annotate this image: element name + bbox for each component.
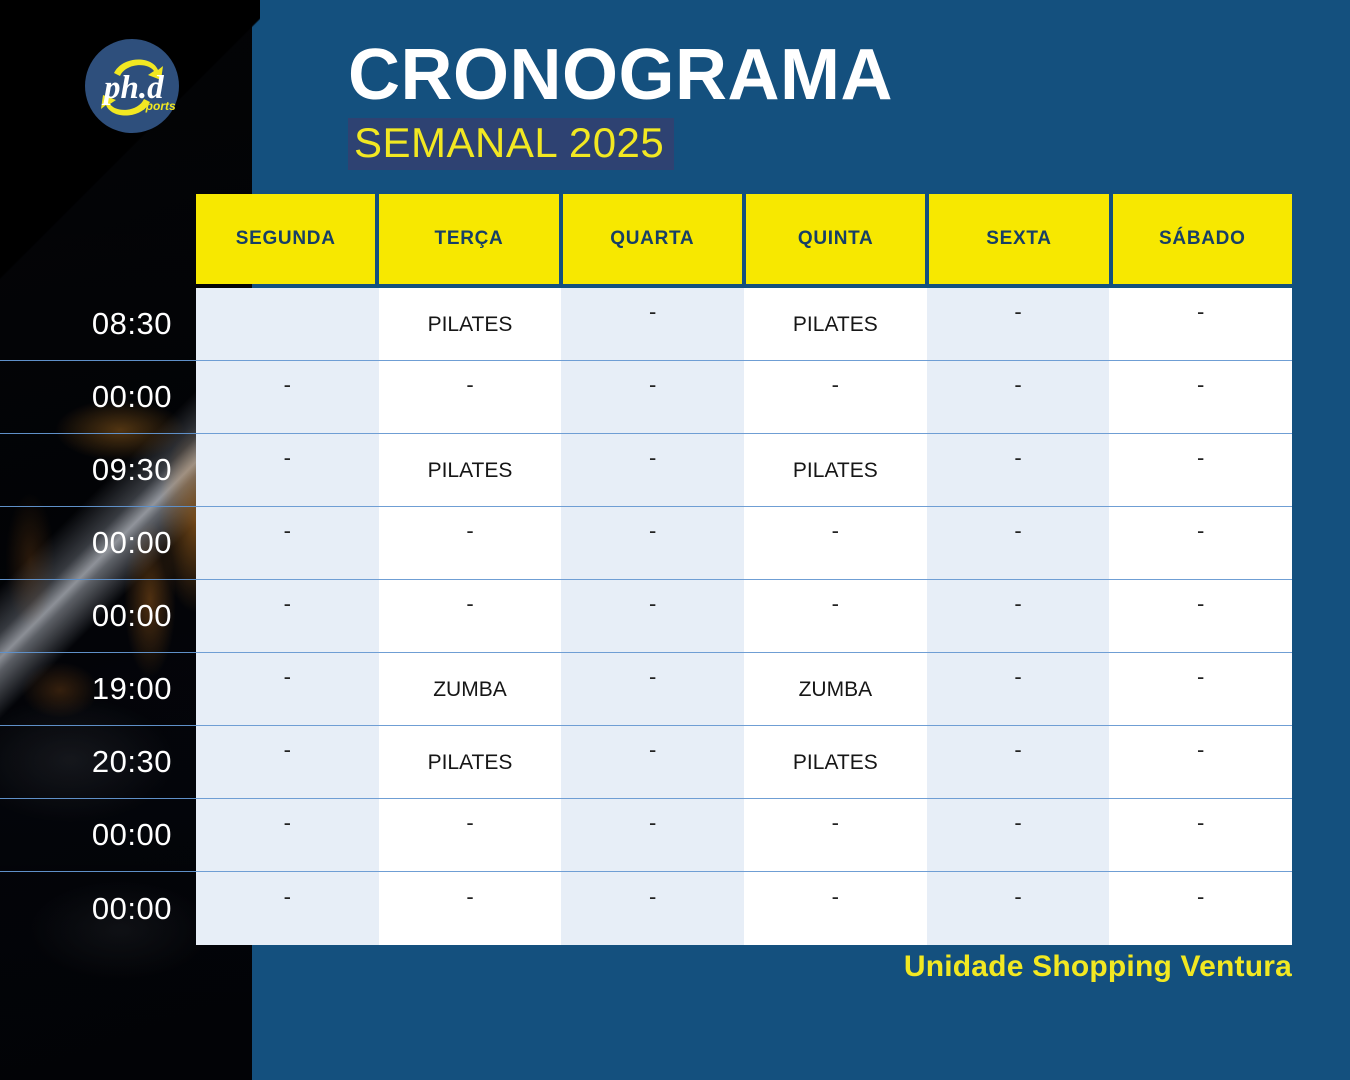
time-label: 09:30	[0, 434, 196, 507]
empty-slot-dash: -	[1197, 593, 1204, 615]
schedule-cell[interactable]: -	[196, 580, 379, 653]
schedule-cell[interactable]: -	[1109, 726, 1292, 799]
empty-slot-dash: -	[1014, 520, 1021, 542]
time-label: 19:00	[0, 653, 196, 726]
column-header-tera[interactable]: TERÇA	[379, 194, 558, 284]
time-column: 08:3000:0009:3000:0000:0019:0020:3000:00…	[0, 288, 196, 945]
schedule-cell[interactable]: -	[1109, 288, 1292, 361]
time-label: 00:00	[0, 872, 196, 945]
schedule-cell[interactable]: -	[927, 726, 1110, 799]
empty-slot-dash: -	[1197, 301, 1204, 323]
schedule-cell[interactable]: -	[379, 507, 562, 580]
schedule-cell[interactable]: -	[561, 434, 744, 507]
empty-slot-dash: -	[466, 812, 473, 834]
column-header-sbado[interactable]: SÁBADO	[1113, 194, 1292, 284]
phd-sports-logo-icon: ph.d sports	[82, 36, 182, 136]
schedule-cell[interactable]: -	[196, 653, 379, 726]
empty-slot-dash: -	[284, 886, 291, 908]
schedule-cell[interactable]: -	[1109, 653, 1292, 726]
schedule-cell[interactable]: -	[744, 580, 927, 653]
empty-slot-dash: -	[649, 739, 656, 761]
empty-slot-dash: -	[1197, 520, 1204, 542]
empty-slot-dash: -	[1014, 812, 1021, 834]
schedule-cell[interactable]: -	[927, 799, 1110, 872]
empty-slot-dash: -	[649, 447, 656, 469]
class-name: PILATES	[428, 751, 513, 775]
phd-sports-logo: ph.d sports	[82, 36, 182, 136]
class-name: PILATES	[428, 313, 513, 337]
column-header-sexta[interactable]: SEXTA	[929, 194, 1108, 284]
schedule-cell[interactable]: -	[744, 507, 927, 580]
empty-slot-dash: -	[466, 374, 473, 396]
class-name: ZUMBA	[799, 678, 873, 702]
schedule-cell[interactable]: -	[1109, 799, 1292, 872]
schedule-cell[interactable]: -	[927, 288, 1110, 361]
schedule-cell[interactable]: -	[196, 434, 379, 507]
empty-slot-dash: -	[284, 374, 291, 396]
column-header-segunda[interactable]: SEGUNDA	[196, 194, 375, 284]
page-header: CRONOGRAMA SEMANAL 2025	[348, 36, 893, 170]
schedule-cell[interactable]: PILATES	[379, 434, 562, 507]
schedule-cell[interactable]: -	[196, 726, 379, 799]
schedule-cell[interactable]: -	[379, 872, 562, 945]
time-label: 00:00	[0, 361, 196, 434]
schedule-cell[interactable]: -	[1109, 872, 1292, 945]
schedule-cell[interactable]: -	[196, 872, 379, 945]
schedule-cell[interactable]: -	[927, 507, 1110, 580]
empty-slot-dash: -	[649, 374, 656, 396]
empty-slot-dash: -	[284, 666, 291, 688]
schedule-body: PILATES-PILATES---------PILATES-PILATES-…	[196, 288, 1292, 945]
empty-slot-dash: -	[1014, 593, 1021, 615]
empty-slot-dash: -	[832, 593, 839, 615]
schedule-cell[interactable]: ZUMBA	[379, 653, 562, 726]
time-label: 00:00	[0, 799, 196, 872]
empty-slot-dash: -	[1197, 886, 1204, 908]
empty-slot-dash: -	[1014, 374, 1021, 396]
empty-slot-dash: -	[1014, 301, 1021, 323]
schedule-cell[interactable]: PILATES	[379, 726, 562, 799]
time-label: 00:00	[0, 507, 196, 580]
empty-slot-dash: -	[1014, 666, 1021, 688]
empty-slot-dash: -	[649, 886, 656, 908]
schedule-cell[interactable]: PILATES	[379, 288, 562, 361]
empty-slot-dash: -	[284, 739, 291, 761]
column-header-quarta[interactable]: QUARTA	[563, 194, 742, 284]
empty-slot-dash: -	[284, 812, 291, 834]
class-name: PILATES	[793, 459, 878, 483]
empty-slot-dash: -	[466, 886, 473, 908]
empty-slot-dash: -	[1197, 739, 1204, 761]
schedule-cell[interactable]: -	[196, 507, 379, 580]
empty-slot-dash: -	[832, 886, 839, 908]
schedule-cell[interactable]	[196, 288, 379, 361]
schedule-cell[interactable]: -	[196, 799, 379, 872]
schedule-cell[interactable]: -	[561, 361, 744, 434]
schedule-table: SEGUNDATERÇAQUARTAQUINTASEXTASÁBADO PILA…	[196, 194, 1292, 945]
empty-slot-dash: -	[284, 520, 291, 542]
empty-slot-dash: -	[1197, 447, 1204, 469]
time-label: 20:30	[0, 726, 196, 799]
unit-label: Unidade Shopping Ventura	[904, 950, 1292, 984]
schedule-cell[interactable]: -	[1109, 434, 1292, 507]
class-name: PILATES	[793, 313, 878, 337]
schedule-cell[interactable]: -	[927, 361, 1110, 434]
schedule-cell[interactable]: ZUMBA	[744, 653, 927, 726]
schedule-cell[interactable]: -	[561, 580, 744, 653]
empty-slot-dash: -	[1014, 739, 1021, 761]
empty-slot-dash: -	[1197, 812, 1204, 834]
empty-slot-dash: -	[466, 520, 473, 542]
empty-slot-dash: -	[649, 666, 656, 688]
schedule-cell[interactable]: -	[744, 361, 927, 434]
page-title: CRONOGRAMA	[348, 36, 893, 114]
schedule-cell[interactable]: -	[561, 288, 744, 361]
empty-slot-dash: -	[649, 593, 656, 615]
schedule-cell[interactable]: -	[744, 872, 927, 945]
schedule-cell[interactable]: -	[927, 872, 1110, 945]
empty-slot-dash: -	[1197, 374, 1204, 396]
schedule-cell[interactable]: -	[1109, 361, 1292, 434]
schedule-cell[interactable]: -	[927, 434, 1110, 507]
schedule-cell[interactable]: -	[561, 726, 744, 799]
class-name: ZUMBA	[433, 678, 507, 702]
schedule-cell[interactable]: -	[927, 580, 1110, 653]
empty-slot-dash: -	[466, 593, 473, 615]
subtitle-highlight: SEMANAL 2025	[348, 118, 674, 170]
class-name: PILATES	[428, 459, 513, 483]
schedule-cell[interactable]: -	[379, 580, 562, 653]
empty-slot-dash: -	[649, 520, 656, 542]
schedule-cell[interactable]: PILATES	[744, 434, 927, 507]
empty-slot-dash: -	[284, 593, 291, 615]
empty-slot-dash: -	[1014, 447, 1021, 469]
time-label: 00:00	[0, 580, 196, 653]
schedule-cell[interactable]: -	[379, 361, 562, 434]
schedule-cell[interactable]: -	[196, 361, 379, 434]
empty-slot-dash: -	[832, 374, 839, 396]
schedule-cell[interactable]: -	[1109, 580, 1292, 653]
empty-slot-dash: -	[649, 812, 656, 834]
schedule-cell[interactable]: -	[561, 799, 744, 872]
schedule-header-row: SEGUNDATERÇAQUARTAQUINTASEXTASÁBADO	[196, 194, 1292, 284]
schedule-cell[interactable]: -	[561, 653, 744, 726]
schedule-cell[interactable]: -	[1109, 507, 1292, 580]
class-name: PILATES	[793, 751, 878, 775]
schedule-cell[interactable]: -	[744, 799, 927, 872]
schedule-cell[interactable]: PILATES	[744, 726, 927, 799]
column-header-quinta[interactable]: QUINTA	[746, 194, 925, 284]
svg-text:sports: sports	[139, 99, 176, 113]
schedule-cell[interactable]: PILATES	[744, 288, 927, 361]
empty-slot-dash: -	[1014, 886, 1021, 908]
schedule-cell[interactable]: -	[561, 507, 744, 580]
schedule-cell[interactable]: -	[379, 799, 562, 872]
empty-slot-dash: -	[832, 520, 839, 542]
empty-slot-dash: -	[1197, 666, 1204, 688]
empty-slot-dash: -	[832, 812, 839, 834]
schedule-cell[interactable]: -	[561, 872, 744, 945]
empty-slot-dash: -	[284, 447, 291, 469]
schedule-cell[interactable]: -	[927, 653, 1110, 726]
empty-slot-dash: -	[649, 301, 656, 323]
page-subtitle: SEMANAL 2025	[354, 120, 664, 166]
time-label: 08:30	[0, 288, 196, 361]
